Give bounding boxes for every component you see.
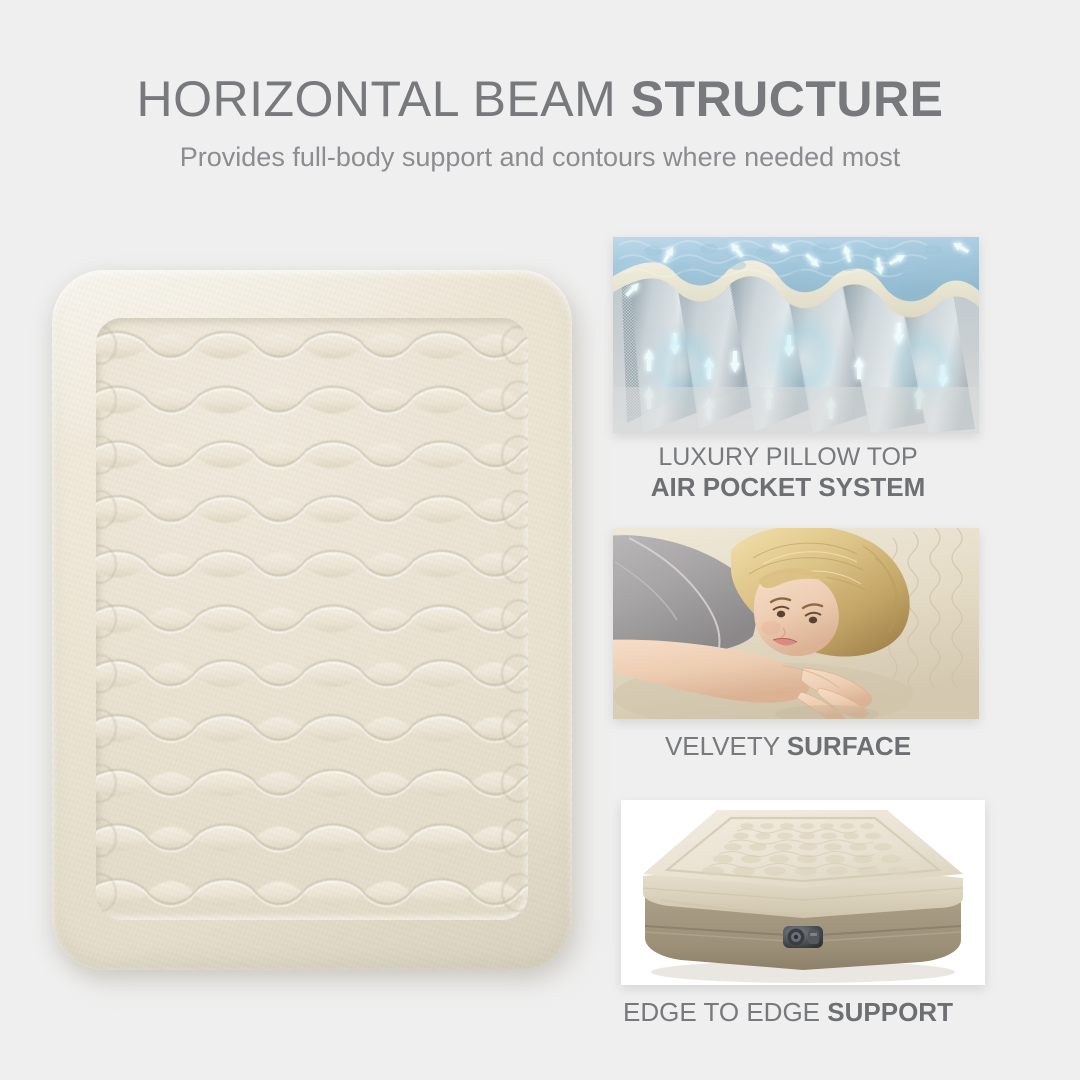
beam-pattern-graphic	[96, 318, 528, 920]
airbed-body	[52, 270, 572, 970]
caption-edge-line2: SUPPORT	[827, 997, 953, 1027]
caption-edge-to-edge: EDGE TO EDGE SUPPORT	[578, 997, 998, 1027]
caption-velvety-line1: VELVETY	[665, 731, 787, 761]
air-pocket-cutaway-graphic	[613, 237, 979, 433]
page-title-bold: STRUCTURE	[631, 71, 944, 127]
page-title-light: HORIZONTAL BEAM	[137, 71, 631, 127]
header-block: HORIZONTAL BEAM STRUCTURE Provides full-…	[0, 0, 1080, 200]
panel-air-pocket-system	[613, 237, 979, 433]
caption-velvety-surface: VELVETY SURFACE	[578, 731, 998, 761]
caption-edge-line1: EDGE TO EDGE	[623, 997, 827, 1027]
airbed-quilt-panel	[96, 318, 528, 920]
woman-on-mattress-photo-graphic	[613, 528, 979, 719]
page-title: HORIZONTAL BEAM STRUCTURE	[0, 74, 1080, 124]
hero-airbed-image	[52, 270, 592, 990]
caption-air-pocket-line2: AIR POCKET SYSTEM	[578, 472, 998, 502]
panel-edge-to-edge-support	[621, 800, 985, 985]
caption-air-pocket: LUXURY PILLOW TOP AIR POCKET SYSTEM	[578, 443, 998, 502]
pump-valve-icon	[783, 926, 823, 948]
caption-air-pocket-line1: LUXURY PILLOW TOP	[578, 443, 998, 472]
page-subtitle: Provides full-body support and contours …	[0, 144, 1080, 171]
airbed-perspective-photo-graphic	[621, 800, 985, 985]
caption-velvety-line2: SURFACE	[787, 731, 911, 761]
panel-velvety-surface	[613, 528, 979, 719]
